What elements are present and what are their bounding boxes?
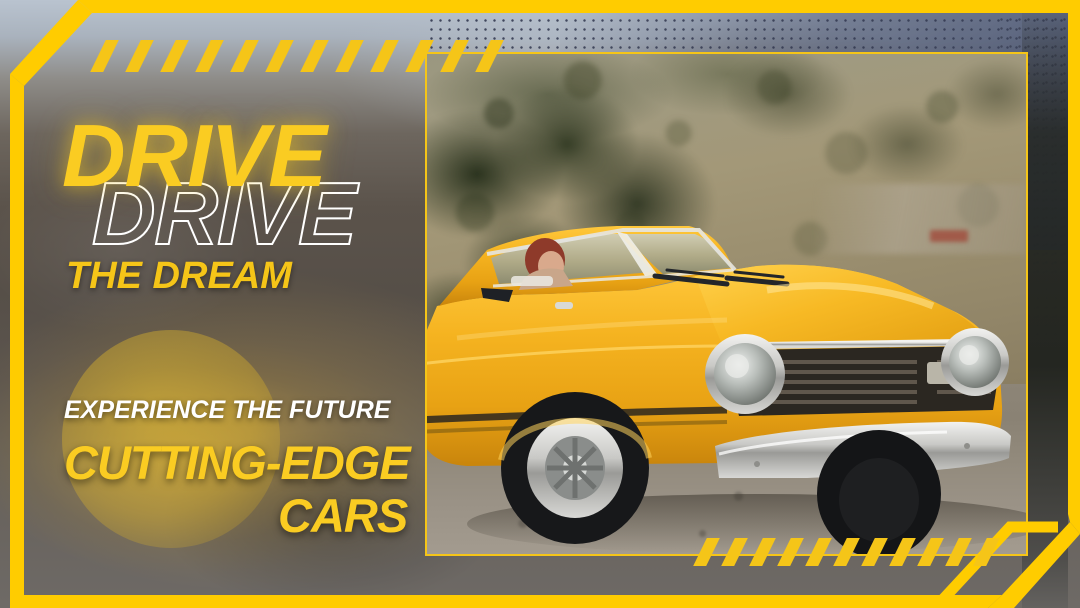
diagonal-stripes-top — [98, 40, 518, 72]
banner-canvas: DRIVE DRIVE THE DREAM EXPERIENCE THE FUT… — [0, 0, 1080, 608]
body-headline-line1: CUTTING-EDGE — [64, 437, 410, 489]
headline-solid-text: DRIVE — [62, 112, 326, 200]
car-photo-image — [427, 54, 1026, 554]
car-illustration — [427, 54, 1028, 556]
subheadline-text: THE DREAM — [66, 256, 292, 296]
body-headline-line2: CARS — [278, 490, 407, 542]
car-photo-panel — [425, 52, 1028, 556]
diagonal-stripes-bottom — [700, 538, 1000, 566]
headline-group: DRIVE DRIVE — [62, 112, 442, 262]
body-eyebrow-text: EXPERIENCE THE FUTURE — [64, 396, 390, 424]
right-dark-gutter — [1022, 0, 1068, 608]
